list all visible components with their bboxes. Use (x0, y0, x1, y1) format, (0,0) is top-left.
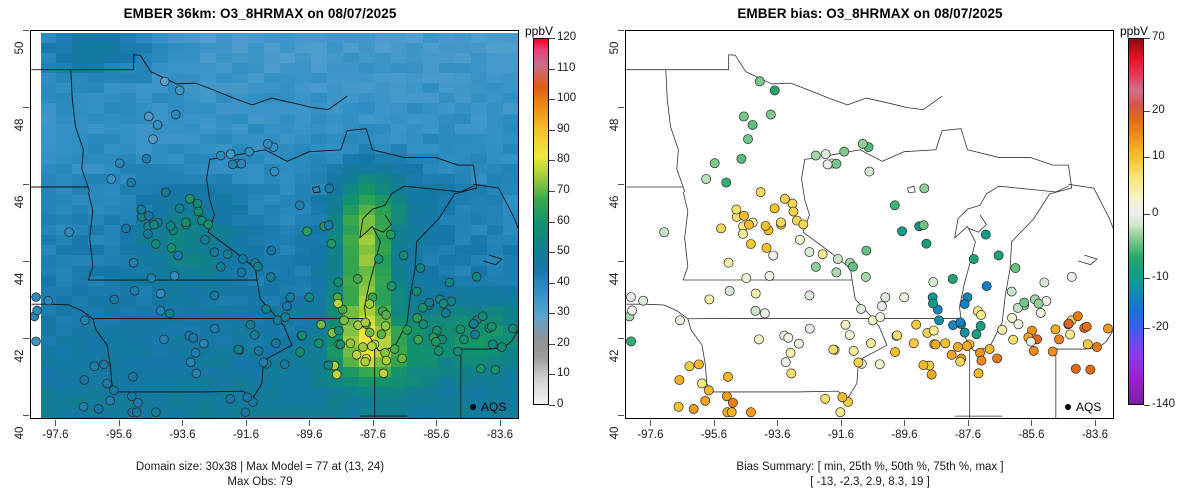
aqs-monitor-point[interactable] (765, 271, 774, 280)
aqs-monitor-point[interactable] (149, 135, 158, 144)
aqs-monitor-point[interactable] (81, 316, 90, 325)
aqs-monitor-point[interactable] (960, 299, 969, 308)
aqs-monitor-point[interactable] (739, 112, 748, 121)
aqs-monitor-point[interactable] (780, 194, 789, 203)
aqs-monitor-point[interactable] (386, 230, 395, 239)
aqs-monitor-point[interactable] (266, 273, 275, 282)
aqs-monitor-point[interactable] (144, 112, 153, 121)
aqs-monitor-point[interactable] (387, 282, 396, 291)
aqs-monitor-point[interactable] (259, 358, 268, 367)
aqs-monitor-point[interactable] (472, 272, 481, 281)
aqs-monitor-point[interactable] (805, 247, 814, 256)
aqs-monitor-point[interactable] (689, 404, 698, 413)
aqs-monitor-point[interactable] (122, 224, 131, 233)
aqs-monitor-point[interactable] (165, 309, 174, 318)
aqs-monitor-point[interactable] (254, 262, 263, 271)
aqs-monitor-point[interactable] (210, 291, 219, 300)
aqs-monitor-point[interactable] (241, 408, 250, 417)
aqs-monitor-point[interactable] (254, 347, 263, 356)
aqs-monitor-point[interactable] (379, 369, 388, 378)
aqs-monitor-point[interactable] (334, 278, 343, 287)
aqs-monitor-point[interactable] (841, 320, 850, 329)
aqs-monitor-point[interactable] (110, 295, 119, 304)
aqs-monitor-point[interactable] (929, 326, 938, 335)
model-plot-area[interactable] (30, 30, 519, 419)
aqs-monitor-point[interactable] (161, 188, 170, 197)
aqs-monitor-point[interactable] (171, 110, 180, 119)
aqs-monitor-point[interactable] (332, 370, 341, 379)
aqs-monitor-point[interactable] (238, 255, 247, 264)
aqs-monitor-point[interactable] (840, 147, 849, 156)
aqs-monitor-point[interactable] (115, 159, 124, 168)
aqs-monitor-point[interactable] (770, 86, 779, 95)
aqs-monitor-point[interactable] (434, 347, 443, 356)
aqs-monitor-point[interactable] (186, 358, 195, 367)
aqs-monitor-point[interactable] (185, 194, 194, 203)
aqs-monitor-point[interactable] (324, 221, 333, 230)
aqs-monitor-point[interactable] (754, 335, 763, 344)
aqs-monitor-point[interactable] (281, 313, 290, 322)
aqs-monitor-point[interactable] (246, 320, 255, 329)
aqs-monitor-point[interactable] (931, 340, 940, 349)
aqs-monitor-point[interactable] (866, 339, 875, 348)
aqs-monitor-point[interactable] (941, 339, 950, 348)
aqs-monitor-point[interactable] (981, 230, 990, 239)
aqs-monitor-point[interactable] (746, 408, 755, 417)
aqs-monitor-point[interactable] (993, 354, 1002, 363)
aqs-monitor-point[interactable] (920, 184, 929, 193)
aqs-monitor-point[interactable] (476, 364, 485, 373)
aqs-monitor-point[interactable] (441, 309, 450, 318)
aqs-monitor-point[interactable] (156, 306, 165, 315)
aqs-monitor-point[interactable] (969, 254, 978, 263)
aqs-monitor-point[interactable] (660, 228, 669, 237)
aqs-monitor-point[interactable] (929, 278, 938, 287)
aqs-monitor-point[interactable] (728, 398, 737, 407)
aqs-monitor-point[interactable] (769, 251, 778, 260)
aqs-monitor-point[interactable] (488, 340, 497, 349)
aqs-monitor-point[interactable] (79, 402, 88, 411)
aqs-monitor-point[interactable] (675, 375, 684, 384)
aqs-monitor-point[interactable] (739, 211, 748, 220)
aqs-monitor-point[interactable] (340, 316, 349, 325)
aqs-monitor-point[interactable] (191, 348, 200, 357)
aqs-monitor-point[interactable] (216, 263, 225, 272)
aqs-monitor-point[interactable] (818, 250, 827, 259)
aqs-monitor-point[interactable] (228, 160, 237, 169)
aqs-monitor-point[interactable] (33, 306, 42, 315)
aqs-monitor-point[interactable] (737, 154, 746, 163)
aqs-monitor-point[interactable] (862, 246, 871, 255)
aqs-monitor-point[interactable] (324, 361, 333, 370)
aqs-monitor-point[interactable] (856, 304, 865, 313)
aqs-monitor-point[interactable] (694, 360, 703, 369)
aqs-monitor-point[interactable] (403, 325, 412, 334)
aqs-monitor-point[interactable] (156, 289, 165, 298)
aqs-monitor-point[interactable] (744, 220, 753, 229)
aqs-monitor-point[interactable] (280, 360, 289, 369)
aqs-monitor-point[interactable] (829, 345, 838, 354)
aqs-monitor-point[interactable] (722, 178, 731, 187)
aqs-monitor-point[interactable] (469, 319, 478, 328)
aqs-monitor-point[interactable] (893, 331, 902, 340)
aqs-monitor-point[interactable] (267, 246, 276, 255)
aqs-monitor-point[interactable] (152, 408, 161, 417)
aqs-monitor-point[interactable] (1073, 312, 1082, 321)
aqs-monitor-point[interactable] (1007, 287, 1016, 296)
aqs-monitor-point[interactable] (431, 337, 440, 346)
aqs-monitor-point[interactable] (833, 254, 842, 263)
aqs-monitor-point[interactable] (263, 139, 272, 148)
aqs-monitor-point[interactable] (919, 361, 928, 370)
aqs-monitor-point[interactable] (781, 358, 790, 367)
aqs-monitor-point[interactable] (976, 321, 985, 330)
aqs-monitor-point[interactable] (639, 296, 648, 305)
aqs-monitor-point[interactable] (226, 150, 235, 159)
aqs-monitor-point[interactable] (742, 274, 751, 283)
aqs-monitor-point[interactable] (204, 220, 213, 229)
aqs-monitor-point[interactable] (1051, 325, 1060, 334)
aqs-monitor-point[interactable] (175, 204, 184, 213)
aqs-monitor-point[interactable] (100, 360, 109, 369)
aqs-monitor-point[interactable] (1067, 272, 1076, 281)
aqs-monitor-point[interactable] (175, 86, 184, 95)
aqs-monitor-point[interactable] (762, 243, 771, 252)
aqs-monitor-point[interactable] (334, 326, 343, 335)
aqs-monitor-point[interactable] (784, 333, 793, 342)
aqs-monitor-point[interactable] (250, 331, 259, 340)
aqs-monitor-point[interactable] (974, 369, 983, 378)
aqs-monitor-point[interactable] (960, 328, 969, 337)
aqs-monitor-point[interactable] (794, 339, 803, 348)
aqs-monitor-point[interactable] (223, 250, 232, 259)
aqs-monitor-point[interactable] (1103, 324, 1112, 333)
aqs-monitor-point[interactable] (854, 358, 863, 367)
aqs-monitor-point[interactable] (147, 274, 156, 283)
aqs-monitor-point[interactable] (685, 362, 694, 371)
aqs-monitor-point[interactable] (998, 325, 1007, 334)
aqs-monitor-point[interactable] (160, 77, 169, 86)
aqs-monitor-point[interactable] (498, 343, 507, 352)
aqs-monitor-point[interactable] (106, 396, 115, 405)
aqs-monitor-point[interactable] (317, 320, 326, 329)
aqs-monitor-point[interactable] (897, 227, 906, 236)
aqs-monitor-point[interactable] (697, 379, 706, 388)
aqs-monitor-point[interactable] (890, 201, 899, 210)
aqs-monitor-point[interactable] (189, 333, 198, 342)
aqs-monitor-point[interactable] (881, 293, 890, 302)
aqs-monitor-point[interactable] (471, 330, 480, 339)
aqs-monitor-point[interactable] (382, 356, 391, 365)
aqs-monitor-point[interactable] (142, 154, 151, 163)
aqs-monitor-point[interactable] (674, 402, 683, 411)
aqs-monitor-point[interactable] (170, 272, 179, 281)
aqs-monitor-point[interactable] (166, 222, 175, 231)
aqs-monitor-point[interactable] (491, 365, 500, 374)
aqs-monitor-point[interactable] (303, 227, 312, 236)
aqs-monitor-point[interactable] (359, 343, 368, 352)
aqs-monitor-point[interactable] (509, 324, 518, 333)
aqs-monitor-point[interactable] (243, 393, 252, 402)
aqs-monitor-point[interactable] (787, 369, 796, 378)
aqs-monitor-point[interactable] (724, 258, 733, 267)
aqs-monitor-point[interactable] (194, 207, 203, 216)
aqs-monitor-point[interactable] (487, 322, 496, 331)
aqs-monitor-point[interactable] (398, 354, 407, 363)
aqs-monitor-point[interactable] (927, 370, 936, 379)
aqs-monitor-point[interactable] (109, 386, 118, 395)
aqs-monitor-point[interactable] (716, 224, 725, 233)
aqs-monitor-point[interactable] (150, 220, 159, 229)
aqs-monitor-point[interactable] (377, 330, 386, 339)
aqs-monitor-point[interactable] (145, 211, 154, 220)
aqs-monitor-point[interactable] (414, 335, 423, 344)
aqs-monitor-point[interactable] (381, 348, 390, 357)
aqs-monitor-point[interactable] (628, 306, 637, 315)
aqs-monitor-point[interactable] (262, 305, 271, 314)
aqs-monitor-point[interactable] (181, 218, 190, 227)
aqs-monitor-point[interactable] (865, 167, 874, 176)
aqs-monitor-point[interactable] (704, 386, 713, 395)
aqs-monitor-point[interactable] (725, 286, 734, 295)
aqs-monitor-point[interactable] (972, 330, 981, 339)
aqs-monitor-point[interactable] (361, 357, 370, 366)
aqs-monitor-point[interactable] (1026, 337, 1035, 346)
aqs-monitor-point[interactable] (199, 339, 208, 348)
aqs-monitor-point[interactable] (743, 135, 752, 144)
aqs-monitor-point[interactable] (761, 221, 770, 230)
aqs-monitor-point[interactable] (876, 313, 885, 322)
aqs-monitor-point[interactable] (201, 235, 210, 244)
aqs-monitor-point[interactable] (849, 346, 858, 355)
bias-plot-area[interactable] (625, 30, 1114, 419)
aqs-monitor-point[interactable] (922, 239, 931, 248)
aqs-monitor-point[interactable] (283, 302, 292, 311)
aqs-monitor-point[interactable] (821, 150, 830, 159)
aqs-monitor-point[interactable] (912, 320, 921, 329)
aqs-monitor-point[interactable] (748, 120, 757, 129)
aqs-monitor-point[interactable] (353, 275, 362, 284)
aqs-monitor-point[interactable] (416, 264, 425, 273)
aqs-monitor-point[interactable] (877, 302, 886, 311)
aqs-monitor-point[interactable] (456, 325, 465, 334)
aqs-monitor-point[interactable] (823, 160, 832, 169)
aqs-monitor-point[interactable] (1040, 278, 1049, 287)
aqs-monitor-point[interactable] (795, 235, 804, 244)
aqs-monitor-point[interactable] (982, 282, 991, 291)
aqs-monitor-point[interactable] (1034, 299, 1043, 308)
aqs-monitor-point[interactable] (760, 309, 769, 318)
aqs-monitor-point[interactable] (94, 405, 103, 414)
aqs-monitor-point[interactable] (453, 347, 462, 356)
aqs-monitor-point[interactable] (237, 159, 246, 168)
aqs-monitor-point[interactable] (832, 159, 841, 168)
aqs-monitor-point[interactable] (755, 77, 764, 86)
aqs-monitor-point[interactable] (1054, 335, 1063, 344)
aqs-monitor-point[interactable] (144, 229, 153, 238)
aqs-monitor-point[interactable] (811, 151, 820, 160)
aqs-monitor-point[interactable] (234, 345, 243, 354)
aqs-monitor-point[interactable] (129, 372, 138, 381)
aqs-monitor-point[interactable] (675, 316, 684, 325)
aqs-monitor-point[interactable] (132, 408, 141, 417)
aqs-monitor-point[interactable] (365, 328, 374, 337)
aqs-monitor-point[interactable] (65, 228, 74, 237)
aqs-monitor-point[interactable] (478, 312, 487, 321)
aqs-monitor-point[interactable] (103, 379, 112, 388)
aqs-monitor-point[interactable] (413, 314, 422, 323)
aqs-monitor-point[interactable] (127, 178, 136, 187)
aqs-monitor-point[interactable] (838, 393, 847, 402)
aqs-monitor-point[interactable] (985, 344, 994, 353)
aqs-monitor-point[interactable] (352, 350, 361, 359)
aqs-monitor-point[interactable] (738, 229, 747, 238)
aqs-monitor-point[interactable] (44, 296, 53, 305)
aqs-monitor-point[interactable] (1020, 298, 1029, 307)
aqs-monitor-point[interactable] (216, 151, 225, 160)
aqs-monitor-point[interactable] (732, 205, 741, 214)
aqs-monitor-point[interactable] (821, 394, 830, 403)
aqs-monitor-point[interactable] (361, 318, 370, 327)
aqs-monitor-point[interactable] (134, 398, 143, 407)
aqs-monitor-point[interactable] (962, 341, 971, 350)
aqs-monitor-point[interactable] (919, 221, 928, 230)
aqs-monitor-point[interactable] (861, 272, 870, 281)
aqs-monitor-point[interactable] (805, 324, 814, 333)
aqs-monitor-point[interactable] (296, 348, 305, 357)
aqs-monitor-point[interactable] (210, 248, 219, 257)
aqs-monitor-point[interactable] (1007, 313, 1016, 322)
aqs-monitor-point[interactable] (245, 147, 254, 156)
aqs-monitor-point[interactable] (286, 293, 295, 302)
aqs-monitor-point[interactable] (948, 274, 957, 283)
aqs-monitor-point[interactable] (928, 299, 937, 308)
aqs-monitor-point[interactable] (346, 339, 355, 348)
aqs-monitor-point[interactable] (1092, 342, 1101, 351)
aqs-monitor-point[interactable] (460, 335, 469, 344)
aqs-monitor-point[interactable] (1083, 340, 1092, 349)
aqs-monitor-point[interactable] (193, 199, 202, 208)
aqs-monitor-point[interactable] (723, 372, 732, 381)
aqs-monitor-point[interactable] (160, 335, 169, 344)
aqs-monitor-point[interactable] (832, 268, 841, 277)
aqs-monitor-point[interactable] (909, 339, 918, 348)
aqs-monitor-point[interactable] (412, 287, 421, 296)
aqs-monitor-point[interactable] (845, 330, 854, 339)
aqs-monitor-point[interactable] (799, 220, 808, 229)
aqs-monitor-point[interactable] (1009, 335, 1018, 344)
aqs-monitor-point[interactable] (336, 340, 345, 349)
aqs-monitor-point[interactable] (1082, 322, 1091, 331)
aqs-monitor-point[interactable] (789, 207, 798, 216)
aqs-monitor-point[interactable] (192, 369, 201, 378)
aqs-monitor-point[interactable] (890, 347, 899, 356)
aqs-monitor-point[interactable] (210, 324, 219, 333)
aqs-monitor-point[interactable] (727, 408, 736, 417)
aqs-monitor-point[interactable] (32, 293, 41, 302)
aqs-monitor-point[interactable] (298, 331, 307, 340)
aqs-monitor-point[interactable] (710, 159, 719, 168)
aqs-monitor-point[interactable] (900, 293, 909, 302)
aqs-monitor-point[interactable] (956, 318, 965, 327)
aqs-monitor-point[interactable] (425, 298, 434, 307)
aqs-monitor-point[interactable] (626, 337, 635, 346)
aqs-monitor-point[interactable] (237, 268, 246, 277)
aqs-monitor-point[interactable] (390, 345, 399, 354)
aqs-monitor-point[interactable] (272, 339, 281, 348)
aqs-monitor-point[interactable] (365, 300, 374, 309)
aqs-monitor-point[interactable] (858, 139, 867, 148)
aqs-monitor-point[interactable] (766, 110, 775, 119)
aqs-monitor-point[interactable] (374, 255, 383, 264)
aqs-monitor-point[interactable] (977, 310, 986, 319)
aqs-monitor-point[interactable] (32, 337, 41, 346)
aqs-monitor-point[interactable] (626, 293, 635, 302)
aqs-monitor-point[interactable] (1065, 330, 1074, 339)
aqs-monitor-point[interactable] (994, 251, 1003, 260)
aqs-monitor-point[interactable] (107, 175, 116, 184)
aqs-monitor-point[interactable] (786, 348, 795, 357)
aqs-monitor-point[interactable] (314, 339, 323, 348)
aqs-monitor-point[interactable] (1011, 263, 1020, 272)
aqs-monitor-point[interactable] (130, 286, 139, 295)
aqs-monitor-point[interactable] (751, 306, 760, 315)
aqs-monitor-point[interactable] (956, 357, 965, 366)
aqs-monitor-point[interactable] (836, 408, 845, 417)
aqs-monitor-point[interactable] (805, 291, 814, 300)
aqs-monitor-point[interactable] (934, 316, 943, 325)
aqs-monitor-point[interactable] (151, 240, 160, 249)
aqs-monitor-point[interactable] (90, 362, 99, 371)
aqs-monitor-point[interactable] (705, 295, 714, 304)
aqs-monitor-point[interactable] (756, 188, 765, 197)
aqs-monitor-point[interactable] (751, 289, 760, 298)
aqs-monitor-point[interactable] (174, 251, 183, 260)
aqs-monitor-point[interactable] (129, 258, 138, 267)
aqs-monitor-point[interactable] (1086, 365, 1095, 374)
aqs-monitor-point[interactable] (167, 244, 176, 253)
aqs-monitor-point[interactable] (1029, 346, 1038, 355)
aqs-monitor-point[interactable] (382, 311, 391, 320)
aqs-monitor-point[interactable] (701, 396, 710, 405)
aqs-monitor-point[interactable] (399, 251, 408, 260)
aqs-monitor-point[interactable] (746, 239, 755, 248)
aqs-monitor-point[interactable] (1036, 308, 1045, 317)
aqs-monitor-point[interactable] (776, 218, 785, 227)
aqs-monitor-point[interactable] (270, 167, 279, 176)
aqs-monitor-point[interactable] (875, 360, 884, 369)
aqs-monitor-point[interactable] (325, 184, 334, 193)
aqs-monitor-point[interactable] (811, 262, 820, 271)
aqs-monitor-point[interactable] (381, 322, 390, 331)
aqs-monitor-point[interactable] (80, 376, 89, 385)
aqs-monitor-point[interactable] (1064, 319, 1073, 328)
aqs-monitor-point[interactable] (1071, 364, 1080, 373)
aqs-monitor-point[interactable] (368, 342, 377, 351)
aqs-monitor-point[interactable] (305, 293, 314, 302)
aqs-monitor-point[interactable] (226, 394, 235, 403)
aqs-monitor-point[interactable] (702, 174, 711, 183)
aqs-monitor-point[interactable] (977, 356, 986, 365)
aqs-monitor-point[interactable] (327, 239, 336, 248)
aqs-monitor-point[interactable] (439, 299, 448, 308)
aqs-monitor-point[interactable] (334, 299, 343, 308)
aqs-monitor-point[interactable] (445, 278, 454, 287)
aqs-monitor-point[interactable] (953, 342, 962, 351)
aqs-monitor-point[interactable] (947, 350, 956, 359)
aqs-monitor-point[interactable] (848, 262, 857, 271)
aqs-monitor-point[interactable] (137, 205, 146, 214)
